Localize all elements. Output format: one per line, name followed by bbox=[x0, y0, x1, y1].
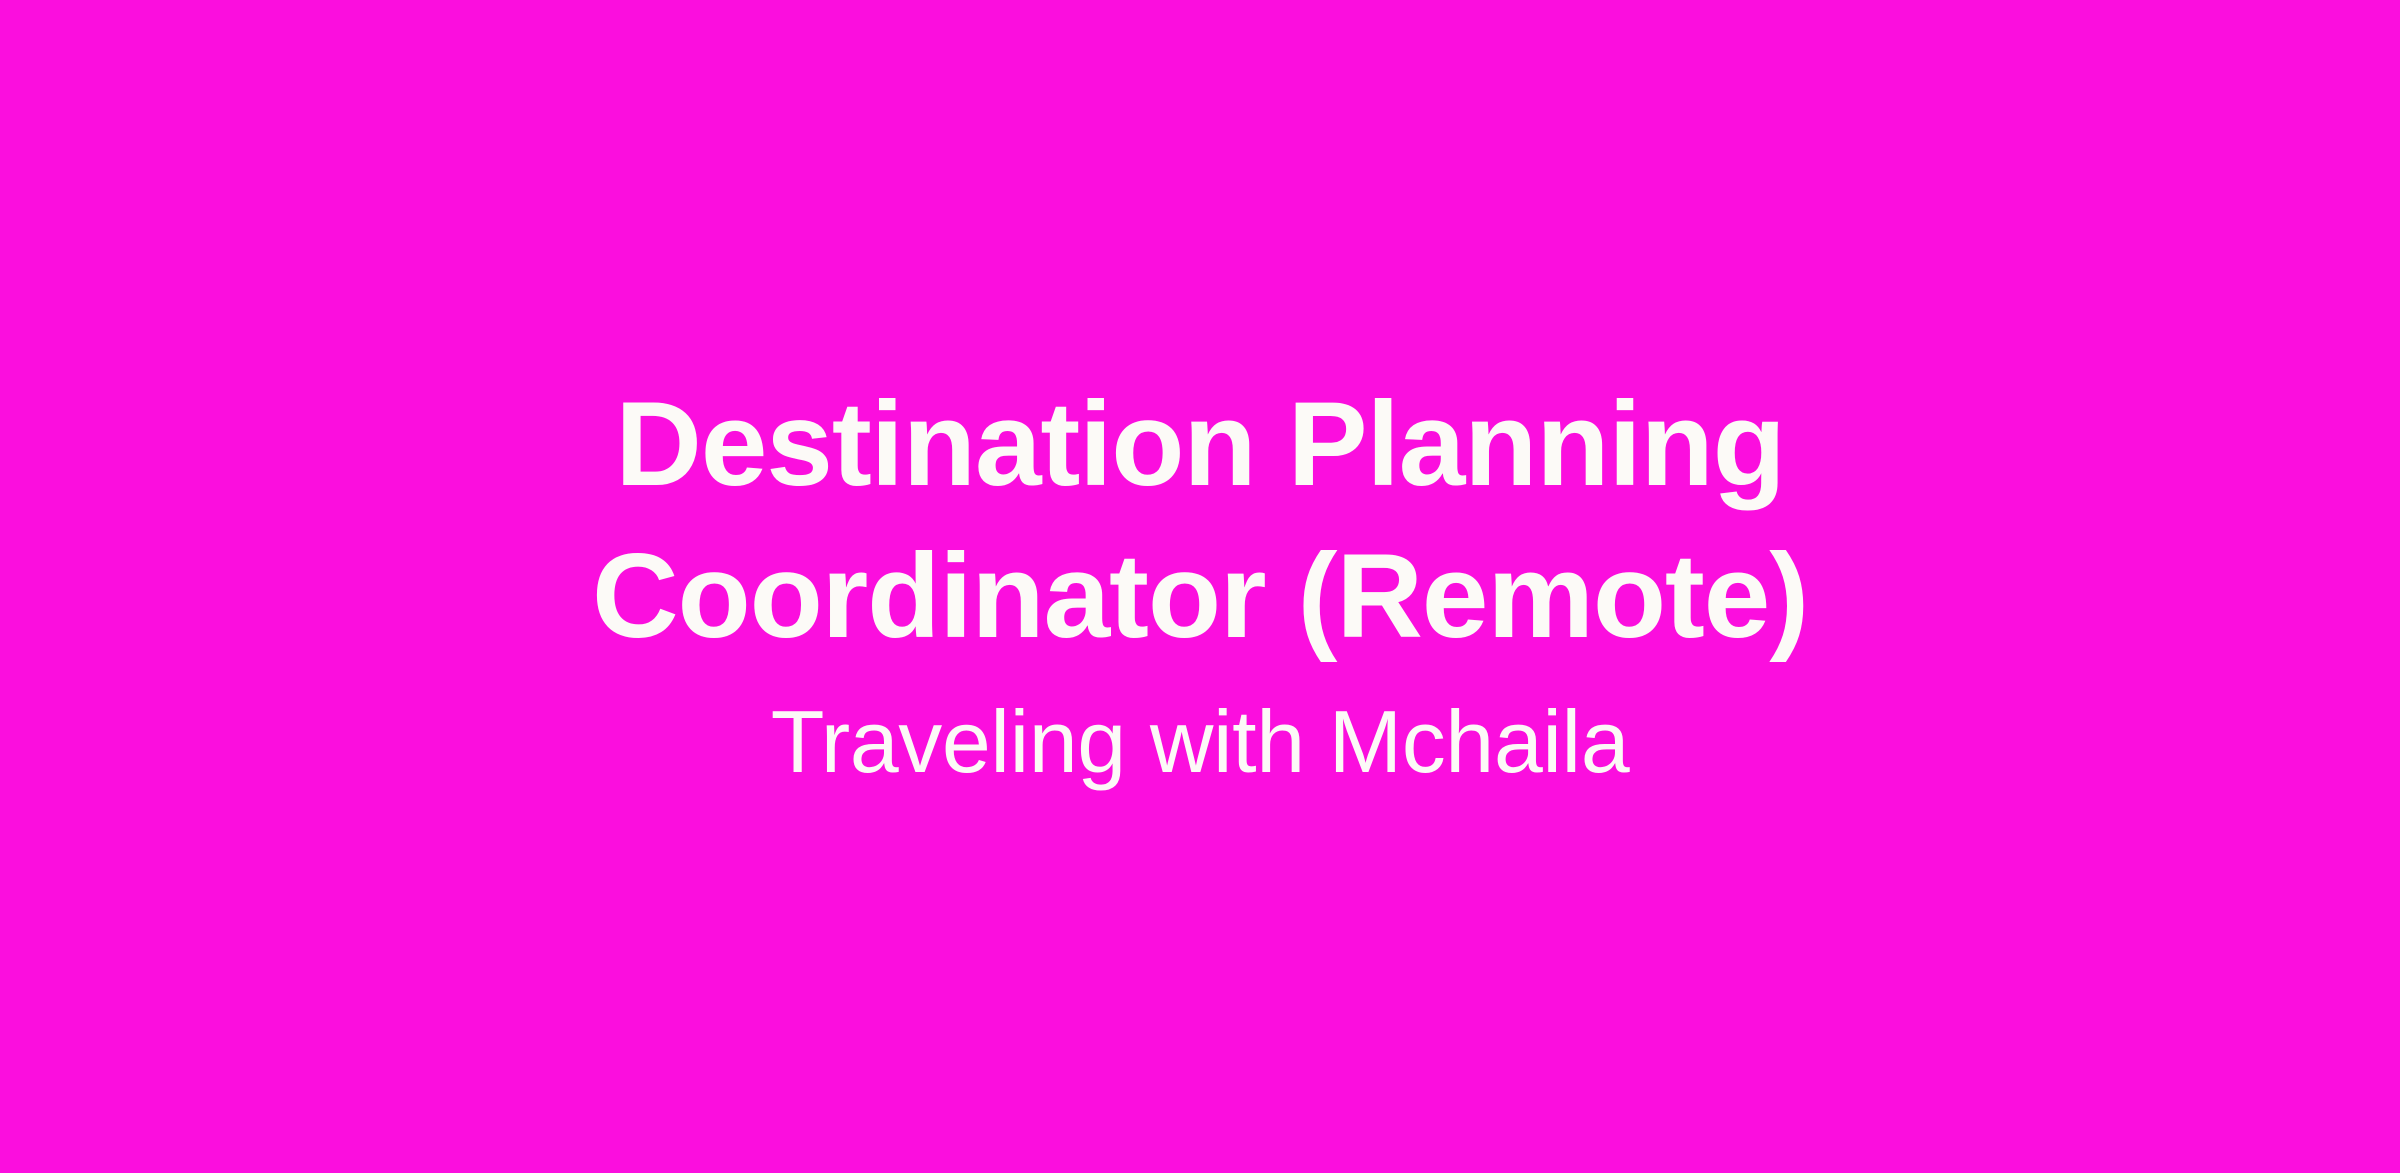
job-posting-card: Destination Planning Coordinator (Remote… bbox=[0, 0, 2400, 1173]
job-title: Destination Planning Coordinator (Remote… bbox=[540, 368, 1860, 672]
company-name: Traveling with Mchaila bbox=[771, 690, 1629, 794]
card-content: Destination Planning Coordinator (Remote… bbox=[180, 368, 2220, 794]
